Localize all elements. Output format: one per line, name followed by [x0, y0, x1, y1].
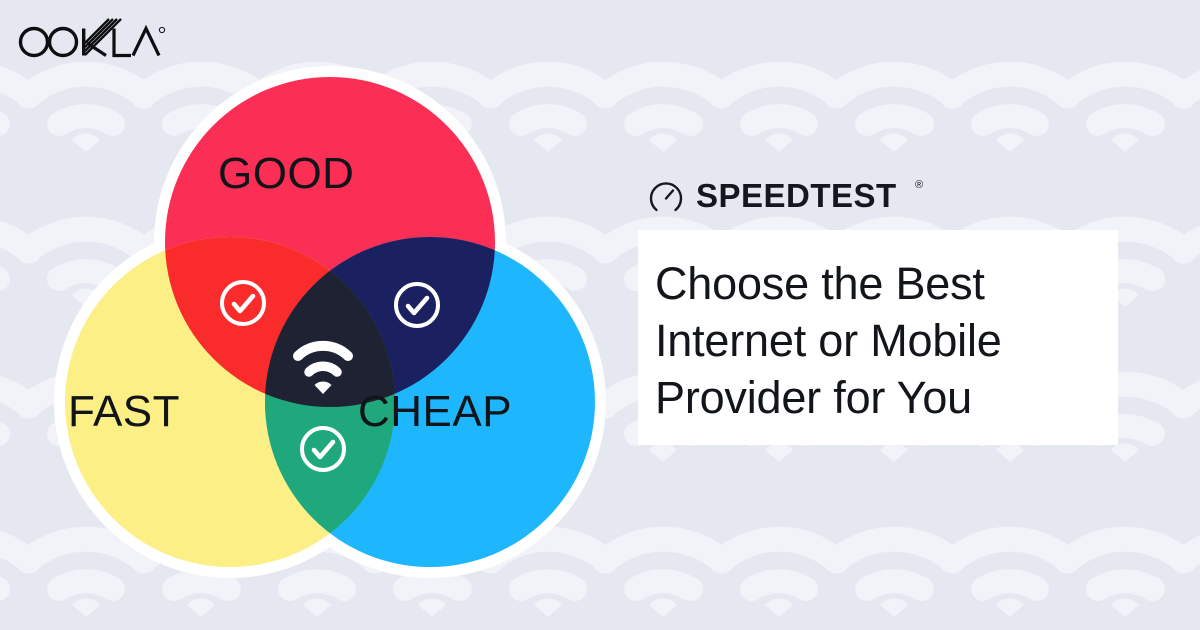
speedtest-registered-mark: ® — [915, 179, 923, 191]
speedtest-wordmark: SPEEDTEST — [696, 177, 897, 215]
headline-card: Choose the Best Internet or Mobile Provi… — [638, 230, 1118, 445]
venn-label-good: GOOD — [218, 152, 354, 196]
speedtest-logo: SPEEDTEST ® — [648, 175, 933, 219]
headline-line-2: Internet or Mobile — [655, 312, 1118, 369]
headline-line-3: Provider for You — [655, 369, 1118, 426]
ookla-logo — [16, 16, 166, 62]
headline-line-1: Choose the Best — [655, 255, 1118, 312]
venn-label-cheap: CHEAP — [358, 390, 512, 434]
speedometer-icon — [648, 179, 684, 215]
page-title: Choose the Best Internet or Mobile Provi… — [655, 255, 1118, 426]
promo-banner: GOOD FAST CHEAP SPEEDTEST ® Choose the B… — [0, 0, 1200, 630]
venn-diagram — [50, 62, 610, 582]
right-content-column: SPEEDTEST ® Choose the Best Internet or … — [638, 175, 1128, 219]
venn-label-fast: FAST — [68, 390, 180, 434]
